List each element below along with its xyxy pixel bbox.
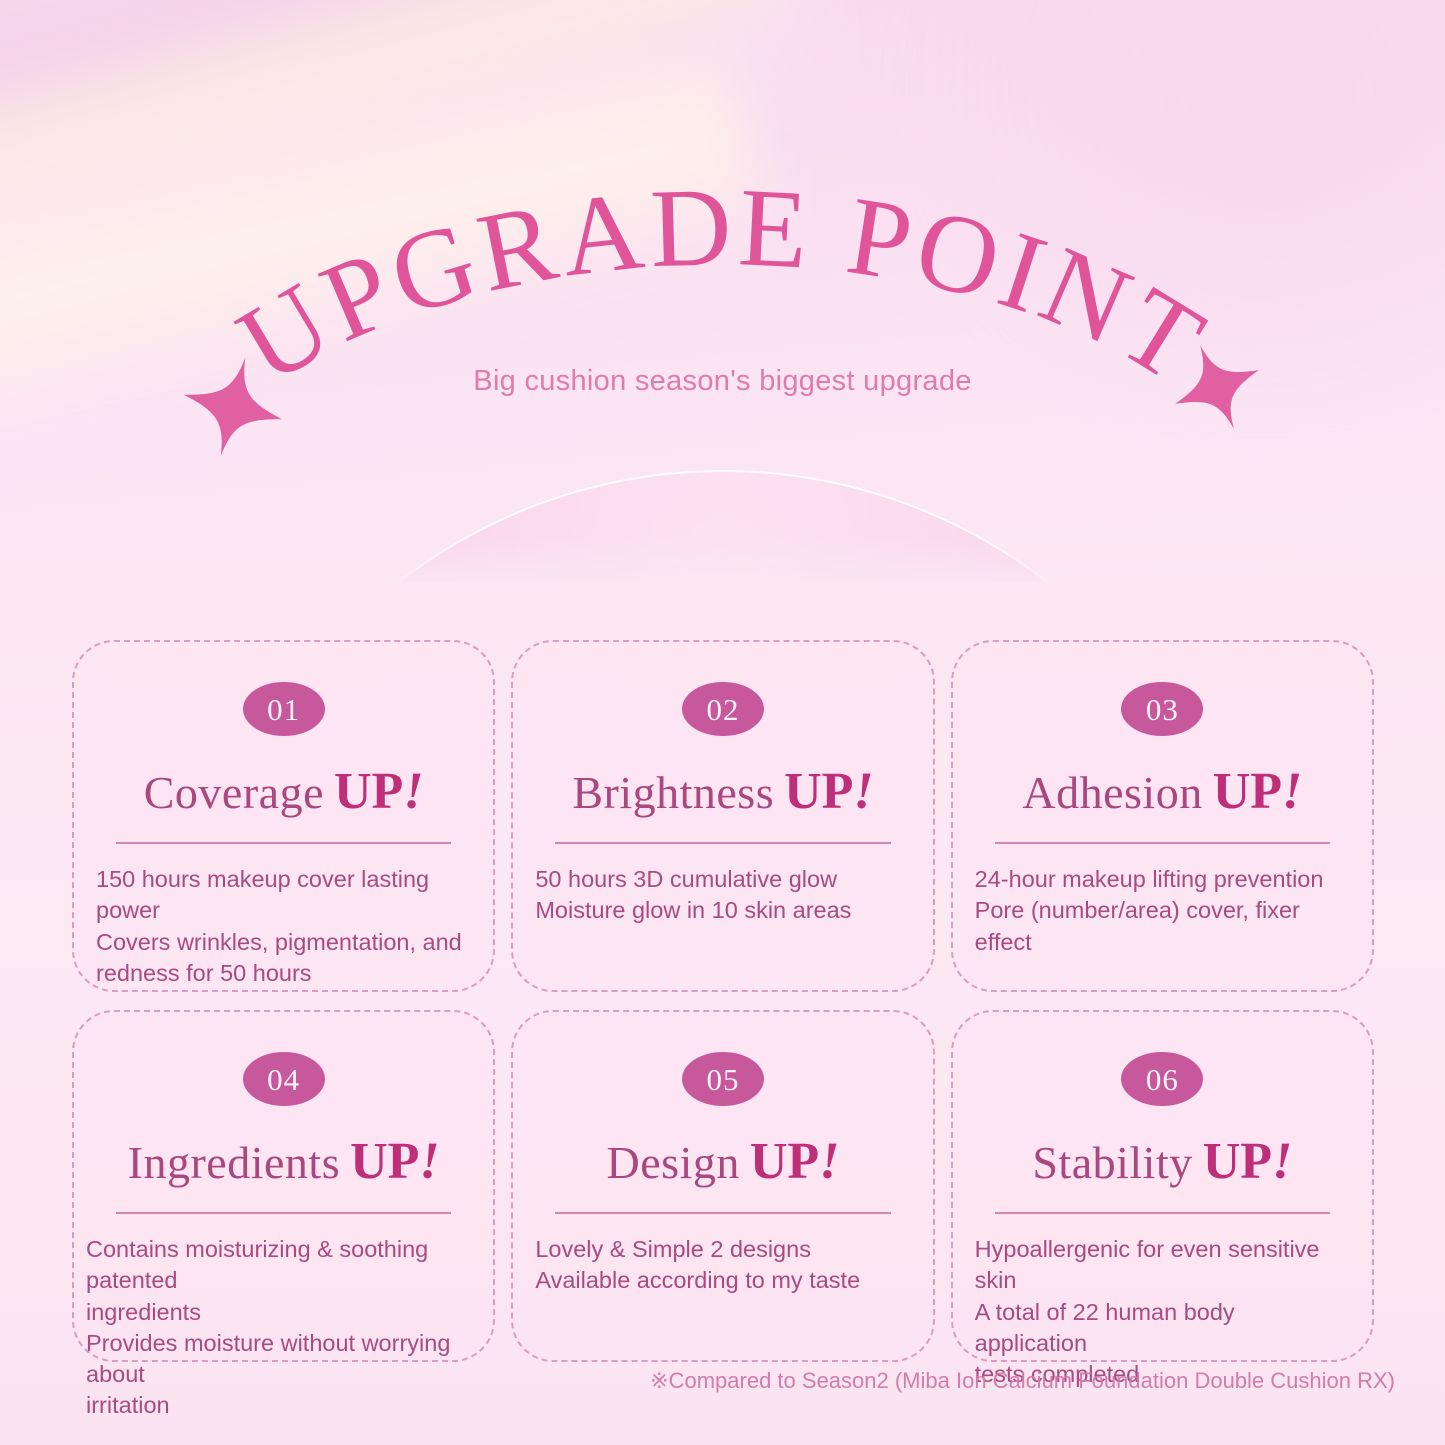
card-heading: StabilityUP! xyxy=(953,1132,1372,1191)
card-number-badge: 06 xyxy=(1121,1052,1203,1106)
card-heading-bang: ! xyxy=(419,1133,439,1190)
card-heading-word: Adhesion xyxy=(1022,767,1202,818)
card-heading-word: Ingredients xyxy=(128,1137,340,1188)
card-number: 05 xyxy=(706,1064,739,1095)
upgrade-card-02[interactable]: 02 BrightnessUP! 50 hours 3D cumulative … xyxy=(511,640,934,992)
card-description: Lovely & Simple 2 designs Available acco… xyxy=(535,1234,910,1297)
card-heading-bang: ! xyxy=(403,763,423,820)
card-heading-word: Coverage xyxy=(144,767,324,818)
upgrade-card-05[interactable]: 05 DesignUP! Lovely & Simple 2 designs A… xyxy=(511,1010,934,1362)
card-heading-up: UP xyxy=(750,1133,819,1190)
card-description-line: Pore (number/area) cover, fixer effect xyxy=(975,895,1350,958)
card-description-line: ingredients xyxy=(86,1297,481,1328)
card-description-line: Lovely & Simple 2 designs xyxy=(535,1234,910,1265)
card-description-line: Available according to my taste xyxy=(535,1265,910,1296)
card-description-line: Moisture glow in 10 skin areas xyxy=(535,895,910,926)
card-heading: BrightnessUP! xyxy=(513,762,932,821)
page-subtitle: Big cushion season's biggest upgrade xyxy=(0,365,1445,398)
header-banner: UPGRADE POINT Big cushion season's bigge… xyxy=(0,0,1445,582)
card-heading-up: UP xyxy=(1203,1133,1272,1190)
card-heading: AdhesionUP! xyxy=(953,762,1372,821)
card-heading-word: Design xyxy=(607,1137,740,1188)
card-number: 01 xyxy=(267,694,300,725)
card-divider xyxy=(995,1212,1330,1214)
card-heading-bang: ! xyxy=(1282,763,1302,820)
card-description-line: Contains moisturizing & soothing patente… xyxy=(86,1234,481,1297)
card-heading-bang: ! xyxy=(853,763,873,820)
card-heading-word: Brightness xyxy=(572,767,774,818)
card-heading: CoverageUP! xyxy=(74,762,493,821)
card-divider xyxy=(116,1212,451,1214)
upgrade-card-01[interactable]: 01 CoverageUP! 150 hours makeup cover la… xyxy=(72,640,495,992)
card-number-badge: 02 xyxy=(682,682,764,736)
upgrade-cards-grid: 01 CoverageUP! 150 hours makeup cover la… xyxy=(72,640,1374,1362)
card-divider xyxy=(555,842,890,844)
card-divider xyxy=(116,842,451,844)
card-number: 03 xyxy=(1146,694,1179,725)
card-description-line: Hypoallergenic for even sensitive skin xyxy=(975,1234,1350,1297)
card-description-line: 24-hour makeup lifting prevention xyxy=(975,864,1350,895)
card-description: 24-hour makeup lifting prevention Pore (… xyxy=(975,864,1350,958)
card-number-badge: 04 xyxy=(243,1052,325,1106)
card-description: 150 hours makeup cover lasting power Cov… xyxy=(96,864,471,989)
card-number: 02 xyxy=(706,694,739,725)
card-description-line: irritation xyxy=(86,1390,481,1421)
upgrade-card-04[interactable]: 04 IngredientsUP! Contains moisturizing … xyxy=(72,1010,495,1362)
upgrade-point-page: UPGRADE POINT Big cushion season's bigge… xyxy=(0,0,1445,1445)
card-heading: DesignUP! xyxy=(513,1132,932,1191)
card-description-line: Provides moisture without worrying about xyxy=(86,1328,481,1391)
card-description-line: 150 hours makeup cover lasting power xyxy=(96,864,471,927)
card-heading-up: UP xyxy=(334,763,403,820)
card-number-badge: 01 xyxy=(243,682,325,736)
card-number: 06 xyxy=(1146,1064,1179,1095)
card-description: Hypoallergenic for even sensitive skin A… xyxy=(975,1234,1350,1390)
card-description-line: 50 hours 3D cumulative glow xyxy=(535,864,910,895)
card-heading-up: UP xyxy=(784,763,853,820)
card-number: 04 xyxy=(267,1064,300,1095)
card-divider xyxy=(995,842,1330,844)
card-number-badge: 03 xyxy=(1121,682,1203,736)
card-description: 50 hours 3D cumulative glow Moisture glo… xyxy=(535,864,910,927)
upgrade-card-06[interactable]: 06 StabilityUP! Hypoallergenic for even … xyxy=(951,1010,1374,1362)
upgrade-points-section: 01 CoverageUP! 150 hours makeup cover la… xyxy=(0,582,1445,1445)
header-bottom-fade xyxy=(0,536,1445,582)
card-description-line: redness for 50 hours xyxy=(96,958,471,989)
comparison-footnote: ※Compared to Season2 (Miba Ion Calcium F… xyxy=(650,1368,1395,1394)
card-heading-bang: ! xyxy=(819,1133,839,1190)
card-description-line: A total of 22 human body application xyxy=(975,1297,1350,1360)
card-description-line: Covers wrinkles, pigmentation, and xyxy=(96,927,471,958)
card-description: Contains moisturizing & soothing patente… xyxy=(86,1234,481,1422)
card-heading-word: Stability xyxy=(1032,1137,1192,1188)
card-heading-up: UP xyxy=(1213,763,1282,820)
card-heading-up: UP xyxy=(350,1133,419,1190)
upgrade-card-03[interactable]: 03 AdhesionUP! 24-hour makeup lifting pr… xyxy=(951,640,1374,992)
card-heading: IngredientsUP! xyxy=(74,1132,493,1191)
card-heading-bang: ! xyxy=(1272,1133,1292,1190)
card-divider xyxy=(555,1212,890,1214)
card-number-badge: 05 xyxy=(682,1052,764,1106)
